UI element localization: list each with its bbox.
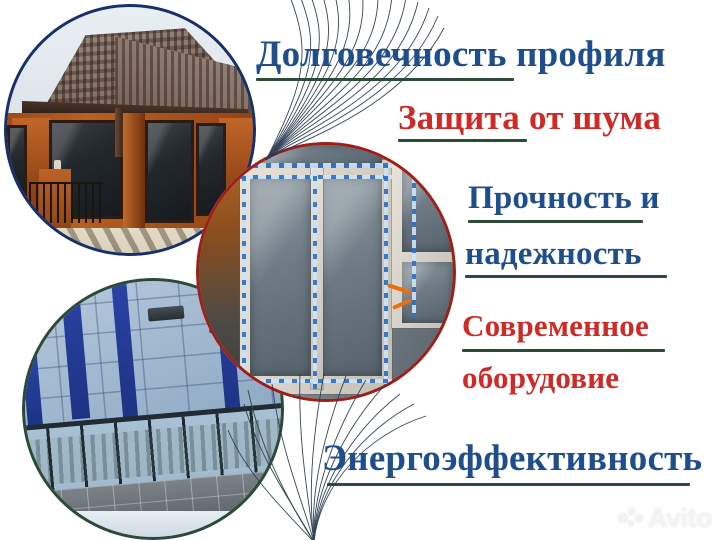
photo-pvc-windows-veka-image <box>199 145 453 399</box>
avito-watermark: Avito <box>618 503 712 534</box>
veka-film-strip-right <box>384 165 388 389</box>
headline-strength-underline <box>468 220 643 223</box>
house-wall-lamp <box>54 160 61 169</box>
avito-watermark-text: Avito <box>648 503 712 534</box>
veka-background-left-wall <box>199 145 240 399</box>
headline-noise-underline <box>398 139 527 142</box>
headline-modern: Современное <box>462 310 649 341</box>
photo-pvc-windows-veka <box>196 142 456 402</box>
house-window-far-left <box>7 125 27 209</box>
building-snow-ground <box>25 511 281 537</box>
poster-canvas: Долговечность профиля Защита от шума Про… <box>0 0 720 540</box>
headline-reliability: надежность <box>465 238 642 271</box>
building-vent-grille-1 <box>147 305 184 321</box>
headline-reliability-underline <box>465 275 667 278</box>
house-downpipe <box>115 108 122 157</box>
veka-glass-pane-left <box>250 178 311 376</box>
headline-durability: Долговечность профиля <box>256 36 666 73</box>
headline-equipment: оборудовие <box>462 362 619 393</box>
house-window-center <box>145 120 194 223</box>
headline-efficiency: Энергоэффективность <box>322 440 702 477</box>
veka-film-strip-left <box>242 170 246 388</box>
veka-film-strip-top <box>240 163 392 168</box>
veka-film-strip-far-right <box>412 155 416 318</box>
headline-durability-underline <box>256 78 514 81</box>
house-balcony-railing <box>29 182 103 223</box>
veka-glass-pane-right <box>321 178 382 376</box>
veka-glass-pane-right-upper <box>402 165 453 251</box>
headline-noise: Защита от шума <box>398 100 661 135</box>
headline-modern-underline <box>462 349 665 352</box>
veka-film-strip-middle <box>313 170 317 388</box>
headline-efficiency-underline <box>327 483 690 486</box>
avito-logo-icon <box>618 508 644 530</box>
veka-film-strip-bottom <box>240 379 392 383</box>
headline-strength: Прочность и <box>468 182 660 215</box>
